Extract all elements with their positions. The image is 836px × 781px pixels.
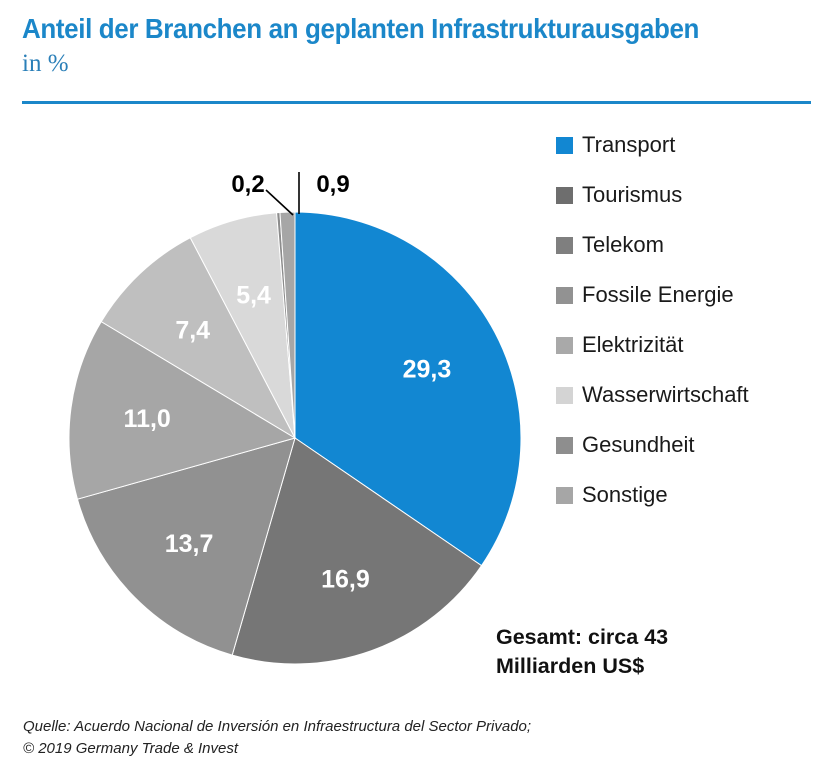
legend-swatch-icon-wasserwirtschaft <box>556 387 573 404</box>
legend-label-transport: Transport <box>582 134 675 156</box>
legend-item-transport[interactable]: Transport <box>556 120 836 170</box>
pie-slice-value-label: 16,9 <box>321 565 370 593</box>
source-note-line1: Quelle: Acuerdo Nacional de Inversión en… <box>23 716 531 738</box>
pie-slice-value-label: 11,0 <box>124 405 171 433</box>
legend-label-telekom: Telekom <box>582 234 664 256</box>
legend-swatch-icon-transport <box>556 137 573 154</box>
legend-swatch-icon-fossile-energie <box>556 287 573 304</box>
legend-swatch-icon-gesundheit <box>556 437 573 454</box>
legend-label-fossile-energie: Fossile Energie <box>582 284 734 306</box>
legend-item-tourismus[interactable]: Tourismus <box>556 170 836 220</box>
legend-label-wasserwirtschaft: Wasserwirtschaft <box>582 384 749 406</box>
pie-callout-value-label: 0,2 <box>231 171 264 198</box>
total-annotation-line1: Gesamt: circa 43 <box>496 623 796 652</box>
pie-slice-value-label: 5,4 <box>236 282 271 310</box>
legend-item-wasserwirtschaft[interactable]: Wasserwirtschaft <box>556 370 836 420</box>
legend-label-sonstige: Sonstige <box>582 484 668 506</box>
legend-swatch-icon-telekom <box>556 237 573 254</box>
legend-item-telekom[interactable]: Telekom <box>556 220 836 270</box>
legend-item-sonstige[interactable]: Sonstige <box>556 470 836 520</box>
legend-label-gesundheit: Gesundheit <box>582 434 695 456</box>
source-note: Quelle: Acuerdo Nacional de Inversión en… <box>23 716 531 760</box>
legend-label-elektrizitaet: Elektrizität <box>582 334 683 356</box>
legend-swatch-icon-tourismus <box>556 187 573 204</box>
total-annotation: Gesamt: circa 43 Milliarden US$ <box>496 623 796 680</box>
legend-swatch-icon-sonstige <box>556 487 573 504</box>
pie-slice-value-label: 13,7 <box>165 530 214 558</box>
pie-slice-group <box>69 212 521 664</box>
legend-item-elektrizitaet[interactable]: Elektrizität <box>556 320 836 370</box>
pie-slice-value-label: 29,3 <box>403 355 452 383</box>
pie-leader-lines <box>266 172 299 215</box>
legend-item-fossile-energie[interactable]: Fossile Energie <box>556 270 836 320</box>
legend-item-gesundheit[interactable]: Gesundheit <box>556 420 836 470</box>
pie-callout-value-label: 0,9 <box>316 171 349 198</box>
leader-line-gesundheit <box>266 190 293 215</box>
pie-slice-value-label: 7,4 <box>175 316 210 344</box>
pie-chart-figure: Anteil der Branchen an geplanten Infrast… <box>0 0 836 781</box>
legend-label-tourismus: Tourismus <box>582 184 682 206</box>
chart-legend: Transport Tourismus Telekom Fossile Ener… <box>556 120 836 520</box>
source-note-line2: © 2019 Germany Trade & Invest <box>23 738 531 760</box>
total-annotation-line2: Milliarden US$ <box>496 652 796 681</box>
legend-swatch-icon-elektrizitaet <box>556 337 573 354</box>
